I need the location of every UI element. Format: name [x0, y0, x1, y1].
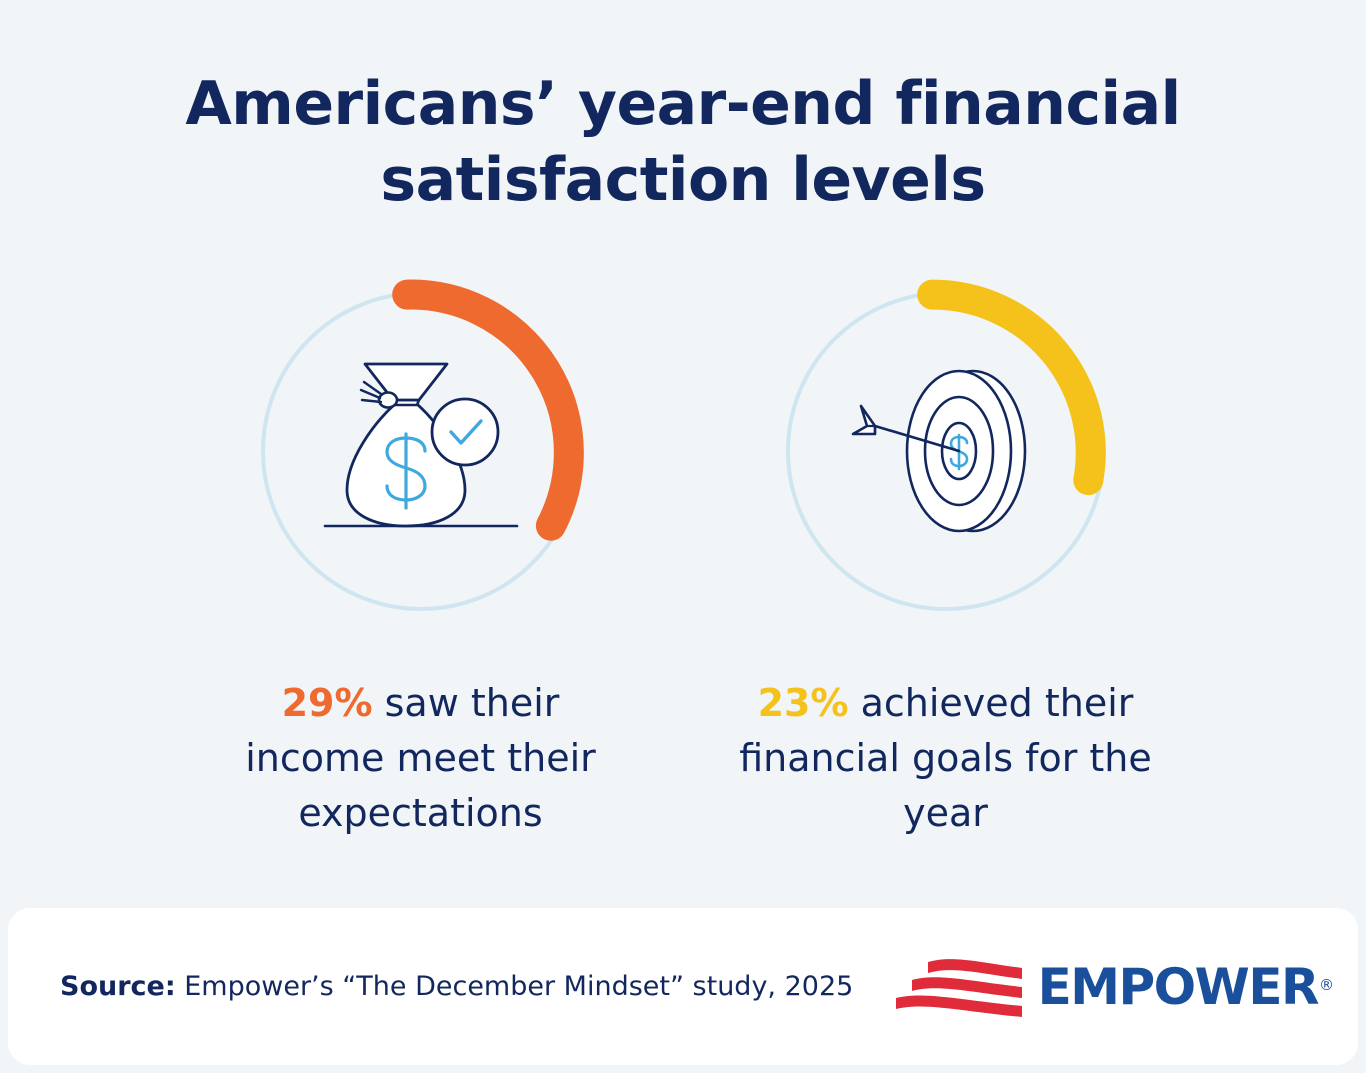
stat-income-expectations: 29% saw their income meet their expectat…	[158, 278, 683, 841]
caption-financial-goals: 23% achieved their financial goals for t…	[736, 676, 1156, 841]
target-arrow-icon-art	[841, 356, 1051, 546]
footer-card: Source: Empower’s “The December Mindset”…	[8, 908, 1358, 1065]
target-arrow-icon	[773, 278, 1119, 624]
money-bag-check-icon-art	[321, 356, 521, 546]
infographic-canvas: Americans’ year-end financial satisfacti…	[0, 0, 1366, 1073]
caption-income-expectations: 29% saw their income meet their expectat…	[211, 676, 631, 841]
empower-wordmark-text: EMPOWER	[1038, 958, 1318, 1016]
stat-percent-orange: 29%	[282, 681, 373, 725]
stat-percent-yellow: 23%	[758, 681, 849, 725]
registered-trademark-icon: ®	[1319, 960, 1334, 1010]
money-bag-check-icon	[248, 278, 594, 624]
gauge-financial-goals	[773, 278, 1119, 624]
empower-flag-waves-icon	[894, 956, 1024, 1018]
empower-logo: EMPOWER®	[894, 956, 1318, 1018]
source-value: Empower’s “The December Mindset” study, …	[176, 971, 854, 1002]
stat-financial-goals: 23% achieved their financial goals for t…	[683, 278, 1208, 841]
source-label: Source:	[60, 971, 176, 1002]
title-line-2: satisfaction levels	[0, 142, 1366, 218]
source-line: Source: Empower’s “The December Mindset”…	[60, 970, 853, 1004]
title-line-1: Americans’ year-end financial	[0, 66, 1366, 142]
page-title: Americans’ year-end financial satisfacti…	[0, 66, 1366, 218]
gauge-income-expectations	[248, 278, 594, 624]
empower-wordmark: EMPOWER®	[1038, 962, 1318, 1012]
stats-row: 29% saw their income meet their expectat…	[0, 278, 1366, 841]
